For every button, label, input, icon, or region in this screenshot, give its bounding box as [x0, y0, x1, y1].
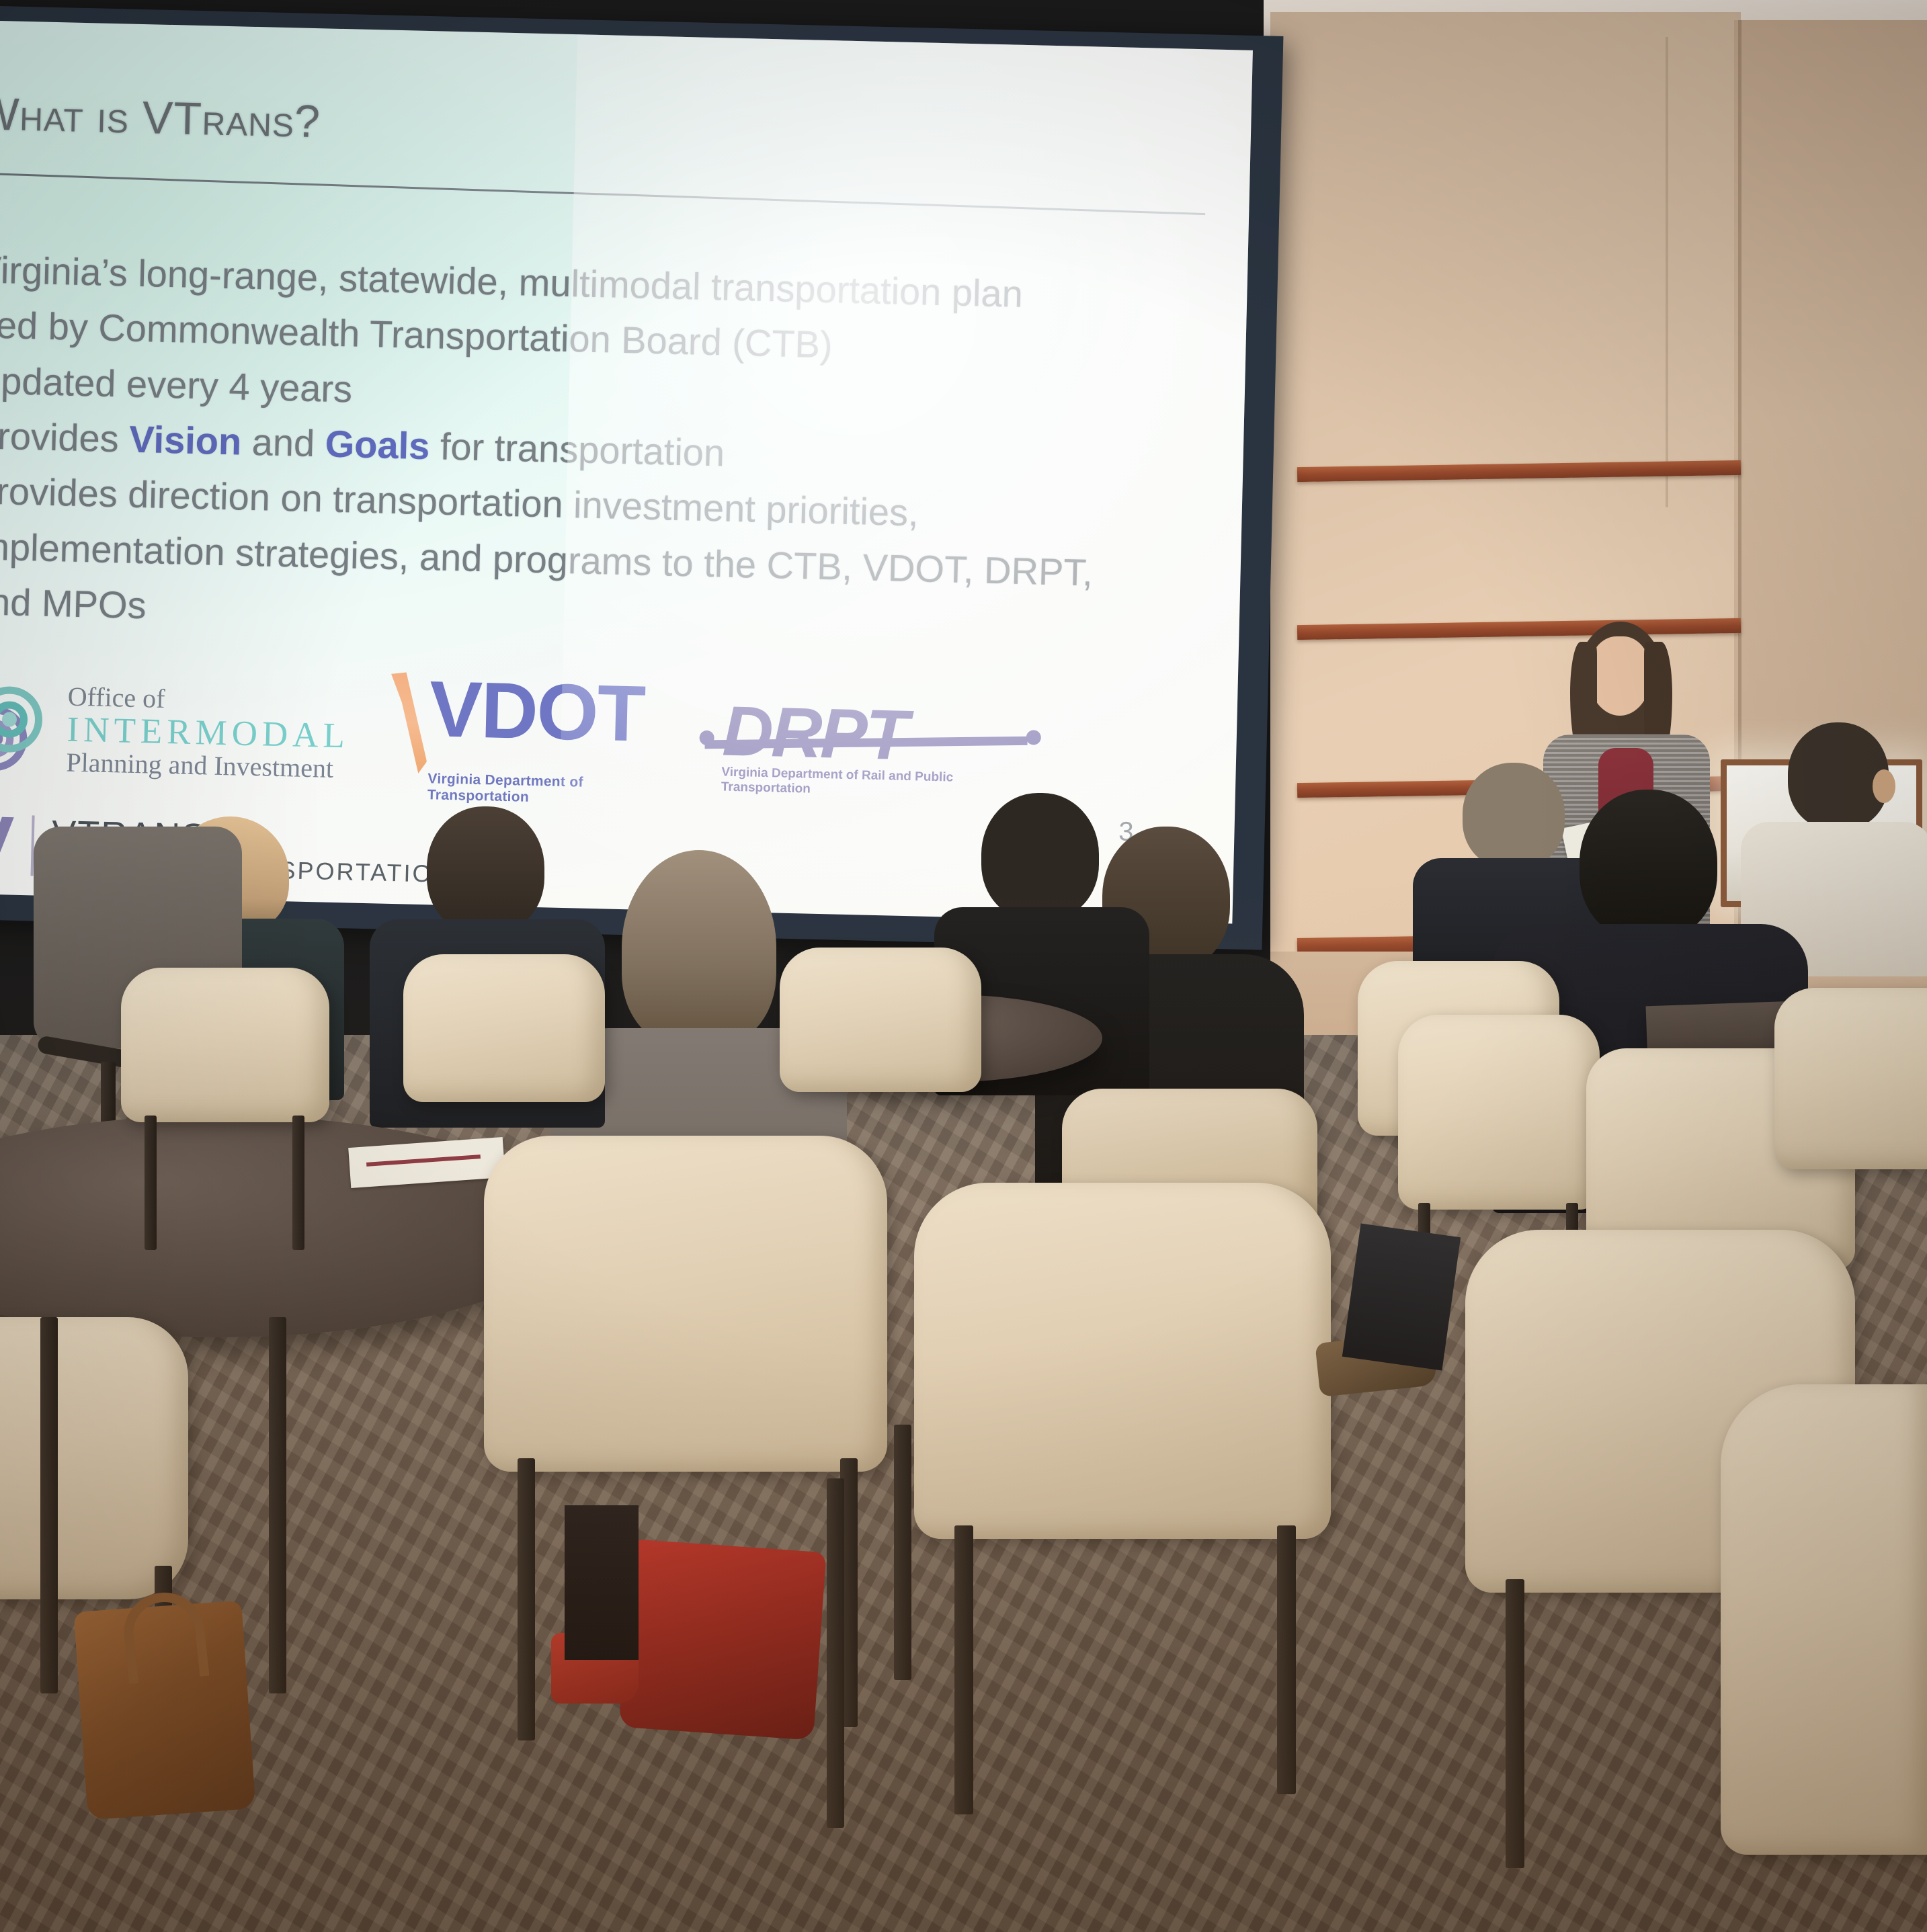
attendee-head [1788, 722, 1889, 830]
attendee-head [981, 793, 1099, 921]
vdot-logo: VDOT Virginia Department of Transportati… [388, 672, 684, 809]
vdot-wordmark: VDOT [429, 673, 645, 751]
drpt-wordmark: DRPT [722, 696, 1039, 773]
table-leg [827, 1478, 844, 1828]
title-divider [0, 172, 1205, 215]
slide-title: What is VTrans? [0, 87, 321, 148]
chair-leg [145, 1116, 157, 1250]
chair[interactable] [121, 968, 329, 1122]
trouser-leg [1342, 1224, 1461, 1371]
bullet-text-before: Provides [0, 414, 130, 460]
conference-room-scene: What is VTrans? Virginia’s long-range, s… [0, 0, 1927, 1932]
bold-goals: Goals [325, 422, 430, 467]
chair-leg [1506, 1579, 1524, 1868]
bullet-text-middle: and [241, 421, 326, 465]
chair[interactable] [403, 954, 605, 1102]
table-leg [40, 1317, 58, 1693]
chair[interactable] [0, 1317, 188, 1599]
chair[interactable] [1721, 1384, 1927, 1855]
oipi-logo-text: Office of INTERMODAL Planning and Invest… [66, 682, 351, 784]
vdot-subtitle: Virginia Department of Transportation [427, 771, 682, 809]
bag-red[interactable] [619, 1539, 827, 1740]
drpt-dot-right-icon [1026, 730, 1041, 745]
attendee-hair-bob [622, 850, 776, 1045]
oipi-logo: Office of INTERMODAL Planning and Invest… [0, 679, 351, 783]
bold-vision: Vision [129, 418, 242, 463]
oipi-line-3: Planning and Investment [66, 749, 349, 784]
chair-leg [894, 1425, 911, 1680]
chair-leg [954, 1525, 973, 1814]
bullet-text-after: for transportation [429, 425, 725, 474]
chair[interactable] [914, 1183, 1331, 1539]
table-leg [269, 1317, 286, 1693]
chair[interactable] [1774, 988, 1927, 1169]
chair-leg [292, 1116, 304, 1250]
vdot-swoosh-icon [389, 672, 429, 773]
vtrans-v-mark: V [0, 812, 15, 878]
attendee-head [1580, 790, 1717, 941]
leg-dark [565, 1505, 639, 1660]
drpt-dot-left-icon [699, 730, 714, 745]
chair[interactable] [1398, 1015, 1600, 1210]
attendee-ear [1873, 769, 1895, 803]
chair[interactable] [484, 1136, 887, 1472]
slide-bullet-list: Virginia’s long-range, statewide, multim… [0, 242, 1173, 657]
chair[interactable] [780, 948, 981, 1092]
concentric-circles-icon [0, 681, 54, 774]
chair-leg [518, 1458, 535, 1740]
chair-leg [1277, 1525, 1296, 1794]
wall-seam-secondary [1666, 37, 1668, 507]
slide-logo-row: Office of INTERMODAL Planning and Invest… [0, 662, 1040, 818]
drpt-logo: DRPT Virginia Department of Rail and Pub… [721, 696, 1039, 802]
projected-slide: What is VTrans? Virginia’s long-range, s… [0, 20, 1253, 924]
presenter-face [1589, 636, 1651, 716]
attendee-head [427, 806, 544, 934]
bullet-item-long: Provides direction on transportation inv… [0, 463, 1114, 656]
